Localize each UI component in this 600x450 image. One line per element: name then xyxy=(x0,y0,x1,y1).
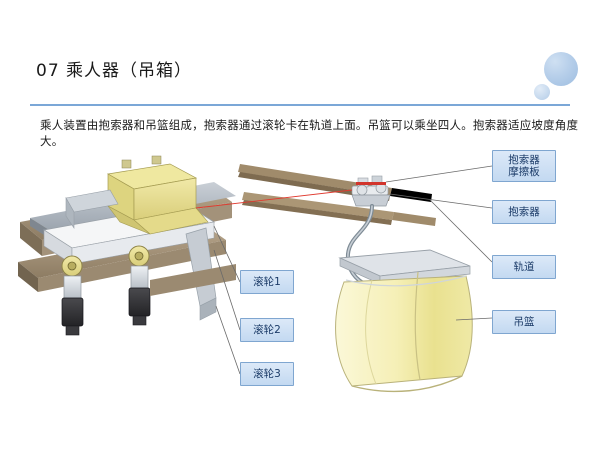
label-roller-1[interactable]: 滚轮1 xyxy=(240,270,294,294)
label-line1: 抱索器 xyxy=(508,206,540,218)
label-roller-2[interactable]: 滚轮2 xyxy=(240,318,294,342)
label-line2: 摩擦板 xyxy=(508,166,540,178)
label-track[interactable]: 轨道 xyxy=(492,255,556,279)
label-line1: 轨道 xyxy=(514,261,535,273)
roller-group-left xyxy=(62,256,83,335)
basket xyxy=(336,250,473,391)
track-assembly xyxy=(18,156,236,335)
label-line1: 抱索器 xyxy=(508,154,540,166)
label-basket[interactable]: 吊篮 xyxy=(492,310,556,334)
label-gripper[interactable]: 抱索器 xyxy=(492,200,556,224)
label-roller-3[interactable]: 滚轮3 xyxy=(240,362,294,386)
label-line1: 吊篮 xyxy=(514,316,535,328)
page-title: 07 乘人器（吊箱） xyxy=(36,56,192,81)
label-line1: 滚轮3 xyxy=(253,368,281,380)
label-line1: 滚轮1 xyxy=(253,276,281,288)
title-divider xyxy=(30,104,570,106)
rail-pair xyxy=(238,164,436,226)
decorative-circle-small xyxy=(534,84,550,100)
label-gripper-friction-plate[interactable]: 抱索器 摩擦板 xyxy=(492,150,556,182)
label-line1: 滚轮2 xyxy=(253,324,281,336)
decorative-circle-large xyxy=(544,52,578,86)
roller-group-middle xyxy=(129,246,150,325)
slide: 07 乘人器（吊箱） 乘人装置由抱索器和吊篮组成，抱索器通过滚轮卡在轨道上面。吊… xyxy=(0,0,600,450)
